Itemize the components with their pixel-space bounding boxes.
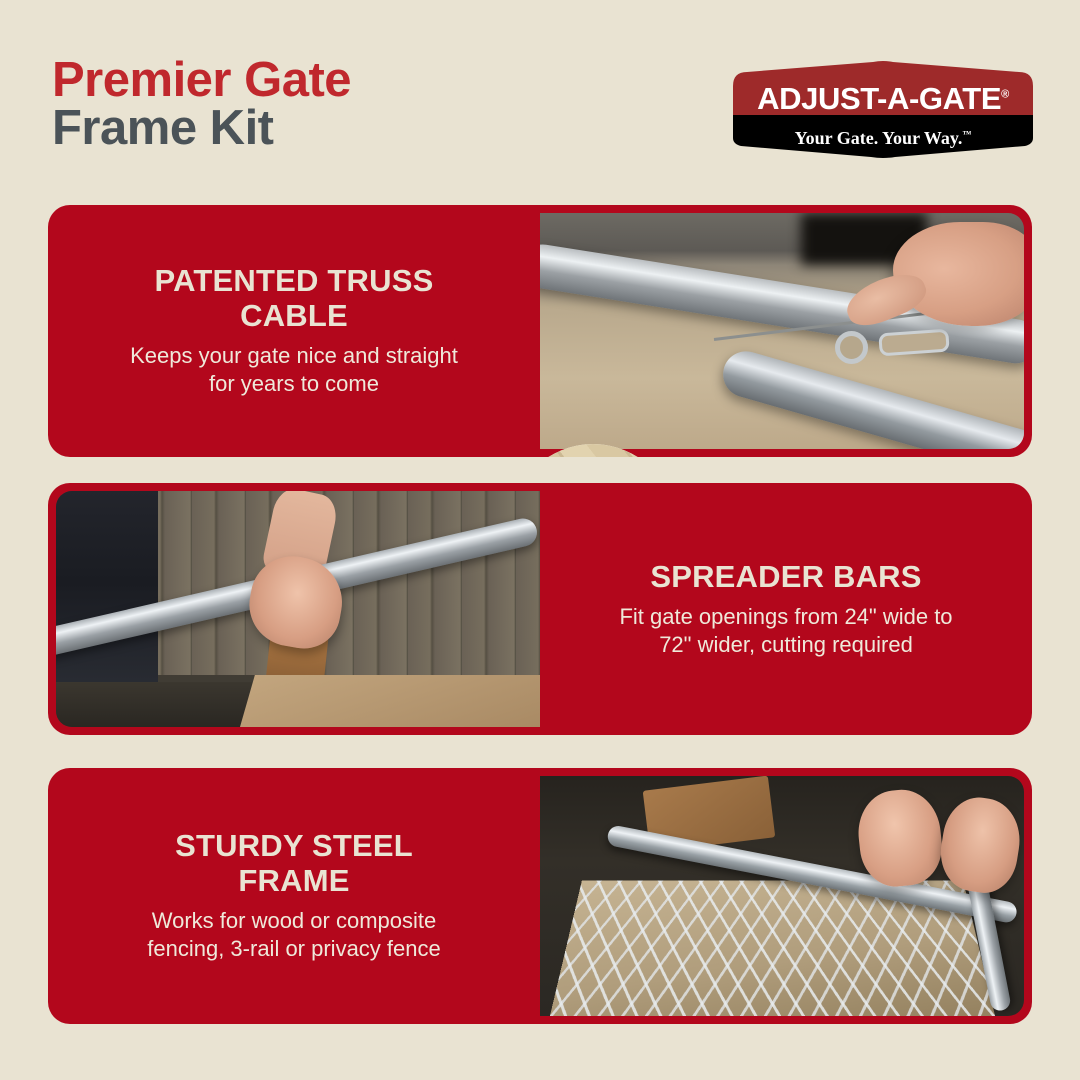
cardboard-surface: [240, 675, 540, 727]
title-line-primary: Premier Gate: [52, 56, 351, 104]
feature-card-truss-cable: PATENTED TRUSS CABLE Keeps your gate nic…: [48, 205, 1032, 457]
trademark-mark-icon: ™: [962, 129, 971, 139]
card-text-block: PATENTED TRUSS CABLE Keeps your gate nic…: [48, 205, 540, 457]
card-inset-circle: [510, 444, 676, 457]
title-line-secondary: Frame Kit: [52, 104, 351, 152]
registered-mark-icon: ®: [1001, 89, 1009, 101]
feature-card-spreader-bars: SPREADER BARS Fit gate openings from 24"…: [48, 483, 1032, 735]
card-photo: [540, 776, 1024, 1016]
brand-logo: ADJUST-A-GATE® Your Gate. Your Way.™: [733, 60, 1033, 158]
card-body: Fit gate openings from 24" wide to 72" w…: [611, 603, 961, 659]
card-body: Works for wood or composite fencing, 3-r…: [119, 907, 469, 963]
card-photo: [540, 213, 1024, 449]
card-text-block: SPREADER BARS Fit gate openings from 24"…: [540, 483, 1032, 735]
logo-tagline-text: Your Gate. Your Way.™: [733, 128, 1033, 149]
card-heading: STURDY STEEL FRAME: [129, 829, 459, 897]
logo-brand-label: ADJUST-A-GATE: [757, 81, 1001, 116]
card-body: Keeps your gate nice and straight for ye…: [119, 342, 469, 398]
turnbuckle: [878, 329, 949, 357]
card-text-block: STURDY STEEL FRAME Works for wood or com…: [48, 768, 540, 1024]
page-title: Premier Gate Frame Kit: [52, 56, 351, 152]
logo-tagline-label: Your Gate. Your Way.: [795, 128, 963, 148]
feature-card-steel-frame: STURDY STEEL FRAME Works for wood or com…: [48, 768, 1032, 1024]
person-legs: [56, 491, 158, 694]
card-heading: PATENTED TRUSS CABLE: [129, 264, 459, 332]
card-heading: SPREADER BARS: [650, 560, 921, 594]
cable-ring: [835, 331, 868, 364]
card-photo: [56, 491, 540, 727]
inset-decking-background: [510, 444, 676, 457]
header: Premier Gate Frame Kit ADJUST-A-GATE® Yo…: [0, 0, 1080, 200]
logo-brand-text: ADJUST-A-GATE®: [733, 81, 1033, 117]
